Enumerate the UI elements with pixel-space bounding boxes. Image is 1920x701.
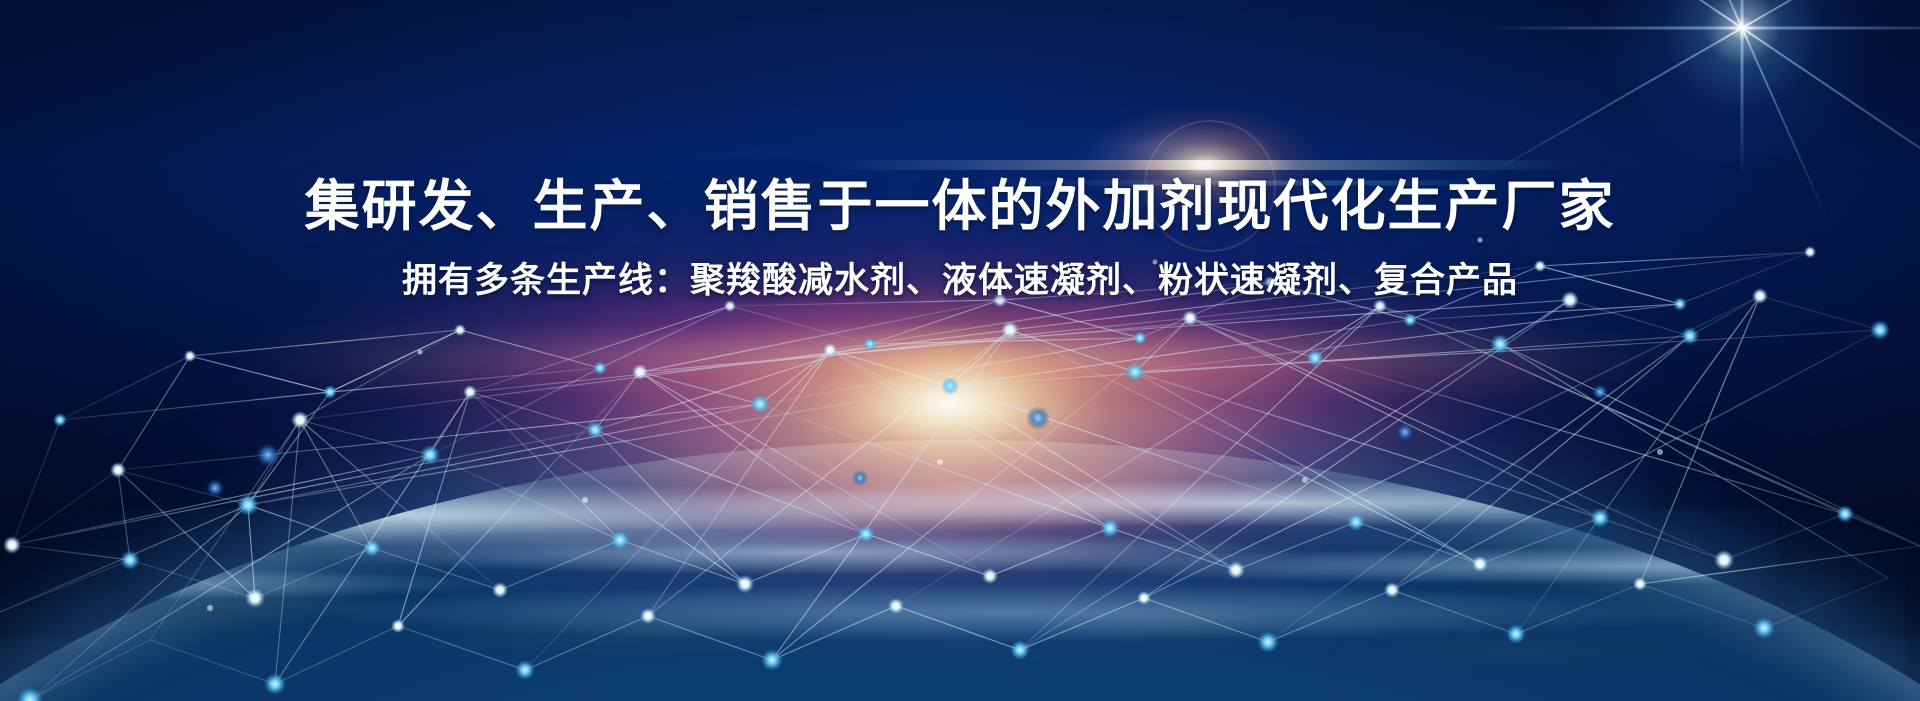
banner-headline: 集研发、生产、销售于一体的外加剂现代化生产厂家 bbox=[0, 176, 1920, 238]
banner-copy: 集研发、生产、销售于一体的外加剂现代化生产厂家 拥有多条生产线：聚羧酸减水剂、液… bbox=[0, 176, 1920, 302]
star-flare bbox=[1592, 0, 1892, 178]
banner-subheadline: 拥有多条生产线：聚羧酸减水剂、液体速凝剂、粉状速凝剂、复合产品 bbox=[0, 260, 1920, 302]
hero-banner: 集研发、生产、销售于一体的外加剂现代化生产厂家 拥有多条生产线：聚羧酸减水剂、液… bbox=[0, 0, 1920, 701]
